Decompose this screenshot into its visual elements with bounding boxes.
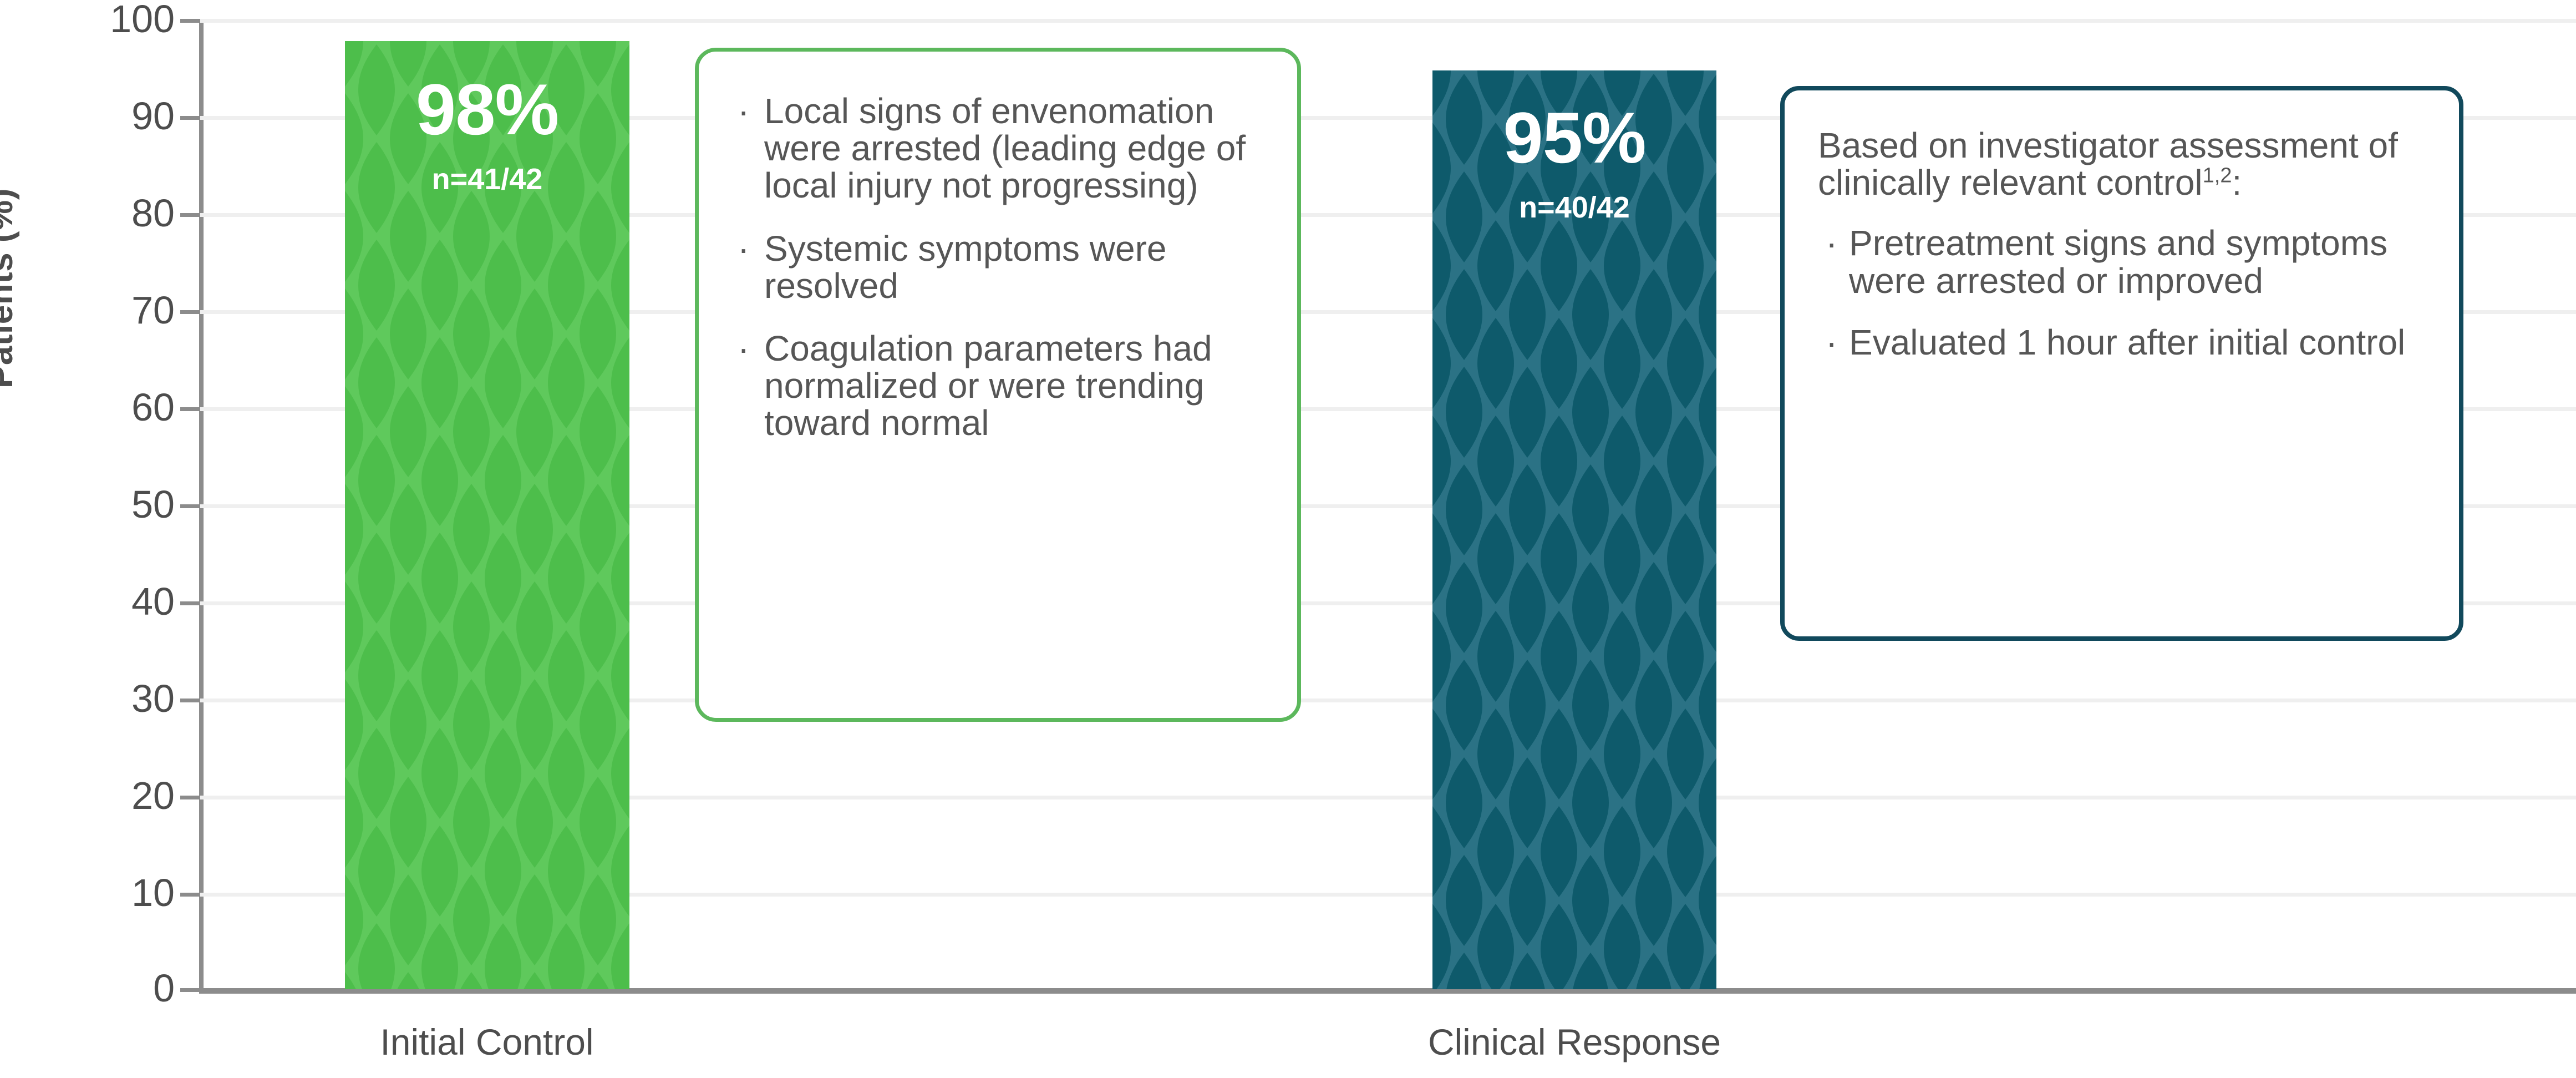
gridline-100 xyxy=(200,19,2576,23)
bar-label-group-initial: 98% n=41/42 xyxy=(345,73,629,194)
y-tick-label-70: 70 xyxy=(47,291,175,330)
x-axis-label-initial-control: Initial Control xyxy=(265,1024,709,1060)
callout-blue-bullet-1: · Pretreatment signs and symptoms were a… xyxy=(1818,225,2423,299)
callout-green-bullet-list: · Local signs of envenomation were arres… xyxy=(730,93,1268,442)
tickmark-40 xyxy=(180,601,200,605)
callout-blue-bullet-2: · Evaluated 1 hour after initial control xyxy=(1818,324,2423,361)
y-tick-label-80: 80 xyxy=(47,194,175,232)
bullet-icon: · xyxy=(738,230,749,267)
tickmark-100 xyxy=(180,19,200,23)
callout-blue-lead-superscript: 1,2 xyxy=(2203,164,2232,188)
callout-green-bullet-1-text: Local signs of envenomation were arreste… xyxy=(764,91,1246,205)
bar-value-label-initial: 98% xyxy=(345,73,629,145)
callout-blue-bullet-list: · Pretreatment signs and symptoms were a… xyxy=(1818,225,2423,361)
callout-blue-bullet-1-text: Pretreatment signs and symptoms were arr… xyxy=(1849,223,2387,300)
y-tick-label-0: 0 xyxy=(47,969,175,1008)
callout-green-bullet-2-text: Systemic symptoms were resolved xyxy=(764,229,1166,306)
callout-clinical-response: Based on investigator assessment of clin… xyxy=(1780,86,2463,641)
callout-green-bullet-2: · Systemic symptoms were resolved xyxy=(730,230,1268,305)
x-axis-label-clinical-response: Clinical Response xyxy=(1353,1024,1796,1060)
y-tick-label-40: 40 xyxy=(47,582,175,621)
y-axis-title: Patients (%) xyxy=(0,188,21,388)
bar-value-label-clinical: 95% xyxy=(1432,102,1716,174)
tickmark-50 xyxy=(180,504,200,508)
callout-green-bullet-1: · Local signs of envenomation were arres… xyxy=(730,93,1268,205)
tickmark-60 xyxy=(180,407,200,411)
callout-blue-lead-text: Based on investigator assessment of clin… xyxy=(1818,125,2398,203)
callout-green-bullet-3-text: Coagulation parameters had normalized or… xyxy=(764,328,1212,443)
tickmark-70 xyxy=(180,310,200,314)
callout-blue-lead: Based on investigator assessment of clin… xyxy=(1818,127,2423,201)
y-tick-label-30: 30 xyxy=(47,679,175,718)
tickmark-80 xyxy=(180,213,200,217)
y-tick-label-50: 50 xyxy=(47,485,175,524)
y-tick-label-90: 90 xyxy=(47,97,175,135)
bar-n-label-clinical: n=40/42 xyxy=(1432,193,1716,222)
bullet-icon: · xyxy=(1826,324,1837,361)
callout-blue-lead-colon: : xyxy=(2232,163,2242,203)
tickmark-10 xyxy=(180,893,200,897)
bullet-icon: · xyxy=(738,330,749,367)
tickmark-20 xyxy=(180,796,200,799)
bullet-icon: · xyxy=(738,93,749,130)
bullet-icon: · xyxy=(1826,225,1837,262)
bar-n-label-initial: n=41/42 xyxy=(345,164,629,194)
callout-green-bullet-3: · Coagulation parameters had normalized … xyxy=(730,330,1268,442)
tickmark-90 xyxy=(180,116,200,120)
tickmark-0 xyxy=(180,988,200,992)
callout-initial-control: · Local signs of envenomation were arres… xyxy=(695,48,1301,722)
y-tick-label-100: 100 xyxy=(47,0,175,38)
bar-label-group-clinical: 95% n=40/42 xyxy=(1432,102,1716,222)
y-tick-label-10: 10 xyxy=(47,873,175,912)
callout-blue-bullet-2-text: Evaluated 1 hour after initial control xyxy=(1849,322,2405,362)
bar-chart: Patients (%) 100 90 80 70 60 50 40 30 20… xyxy=(0,0,2576,1078)
bar-clinical-response: 95% n=40/42 xyxy=(1432,70,1716,989)
tickmark-30 xyxy=(180,699,200,702)
y-tick-label-60: 60 xyxy=(47,388,175,427)
y-tick-label-20: 20 xyxy=(47,776,175,815)
bar-initial-control: 98% n=41/42 xyxy=(345,41,629,989)
